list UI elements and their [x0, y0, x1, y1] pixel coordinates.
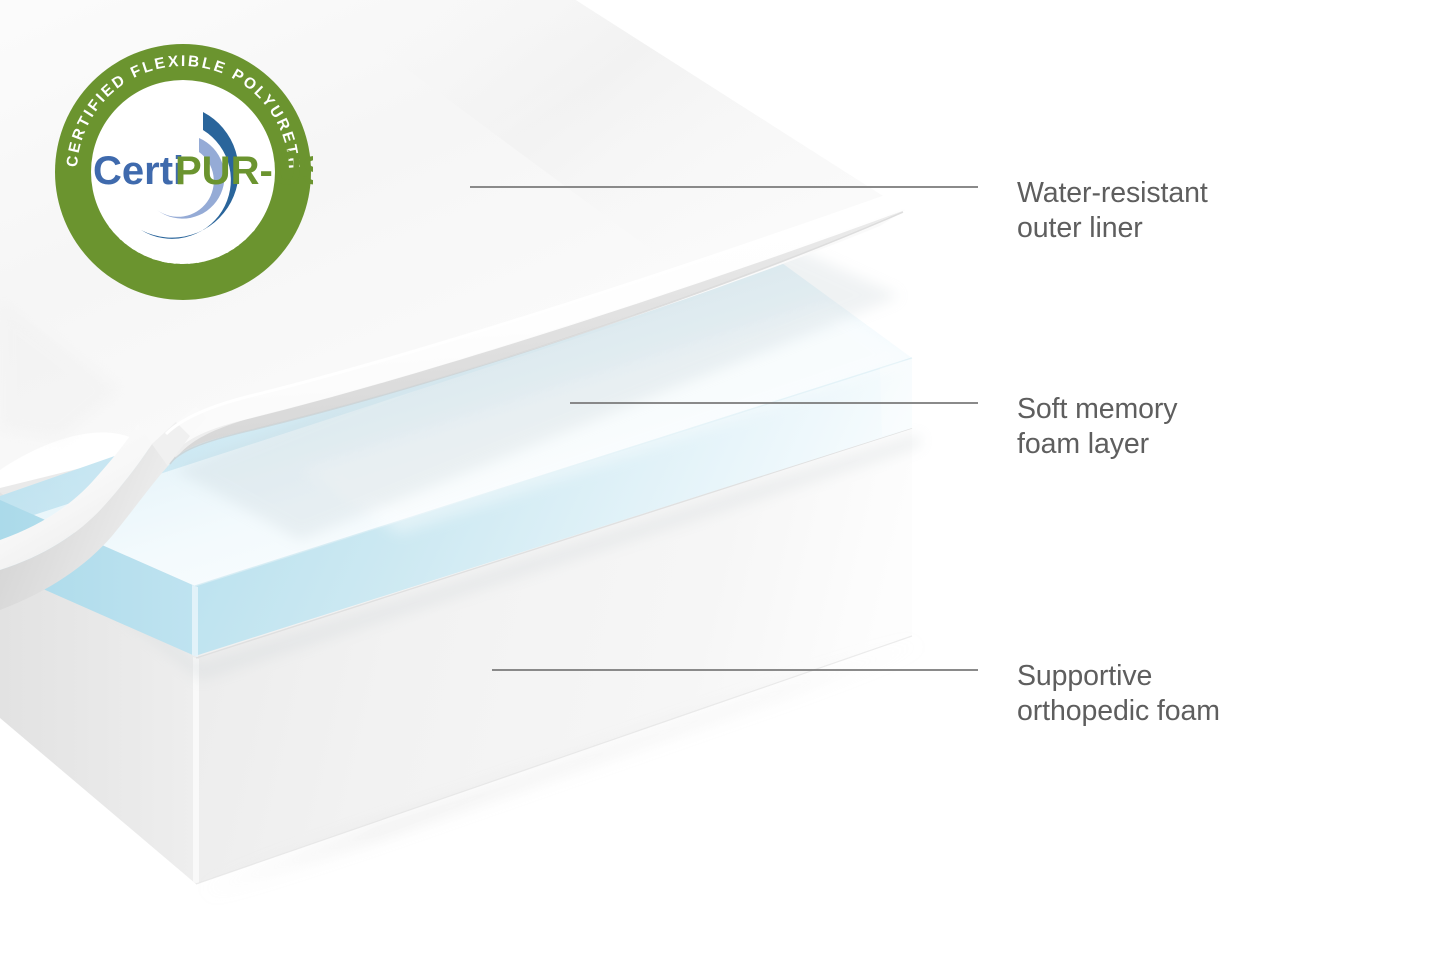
badge-registered-mark: ®	[281, 147, 292, 164]
badge-wordmark: Certi PUR-US ®	[93, 147, 313, 193]
badge-wordmark-purus: PUR-US	[175, 149, 313, 193]
callout-soft-memory-foam-layer: Soft memory foam layer	[1017, 392, 1177, 462]
callout-water-resistant-outer-liner: Water-resistant outer liner	[1017, 176, 1208, 246]
memory-foam-corner-highlight	[192, 585, 198, 657]
callout-supportive-orthopedic-foam: Supportive orthopedic foam	[1017, 659, 1220, 729]
diagram-canvas: CONTAINS CERTIFIED FLEXIBLE POLYURETHANE…	[0, 0, 1445, 964]
memory-foam-right-tip-highlight	[880, 358, 912, 436]
certipur-us-badge: CONTAINS CERTIFIED FLEXIBLE POLYURETHANE…	[53, 42, 313, 302]
badge-wordmark-certi: Certi	[93, 149, 184, 193]
orthopedic-foam-corner-highlight	[193, 657, 199, 884]
